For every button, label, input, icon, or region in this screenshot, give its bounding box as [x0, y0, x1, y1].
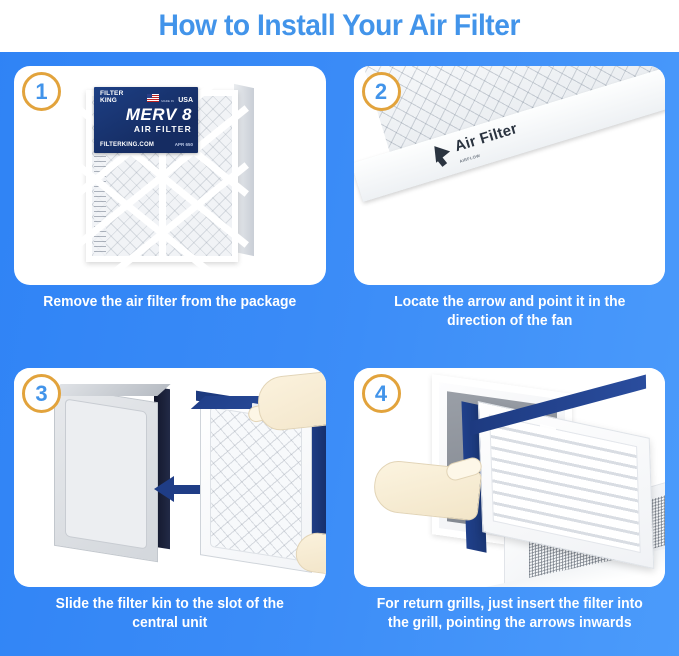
step-caption-3: Slide the filter kin to the slot of the …: [20, 595, 319, 633]
step-caption-2: Locate the arrow and point it in the dir…: [360, 293, 659, 331]
grill-louvers: [489, 414, 641, 553]
step-3-illustration: [14, 368, 326, 587]
unit-front-recess: [65, 399, 147, 550]
step-card-3: 3: [0, 354, 340, 656]
step-number-badge-1: 1: [22, 72, 61, 111]
step-2-illustration: Air Filter AIRFLOW: [354, 66, 666, 285]
apr-rating-text: APR 650: [175, 143, 193, 148]
step-3-image-card: 3: [14, 368, 326, 587]
step-number-badge-3: 3: [22, 374, 61, 413]
step-2-image-card: 2 Air Filter: [354, 66, 666, 285]
infographic-root: How to Install Your Air Filter 1: [0, 0, 679, 656]
air-filter-text: AIR FILTER: [94, 125, 192, 134]
made-in-usa-badge: MADE IN USA: [147, 89, 193, 107]
filter-king-logo: FILTER KING: [100, 91, 123, 104]
step-4-illustration: [354, 368, 666, 587]
step-1-illustration: FILTER KING MADE IN USA: [14, 66, 326, 285]
usa-text: USA: [178, 97, 193, 104]
merv-rating-text: MERV 8: [94, 106, 192, 123]
made-in-usa-text-block: MADE IN USA: [161, 89, 193, 107]
made-in-text: MADE IN: [161, 99, 174, 103]
page-title: How to Install Your Air Filter: [159, 11, 520, 41]
unit-top-face: [47, 384, 170, 396]
hand-upper: [255, 370, 325, 433]
step-1-image-card: 1: [14, 66, 326, 285]
brand-line-1: FILTER: [100, 90, 123, 97]
step-4-image-card: 4: [354, 368, 666, 587]
brand-line-2: KING: [100, 98, 123, 105]
filter-product-label: FILTER KING MADE IN USA: [94, 87, 198, 153]
step-caption-1: Remove the air filter from the package: [20, 293, 319, 312]
step-number-badge-4: 4: [362, 374, 401, 413]
label-brand-row: FILTER KING MADE IN USA: [100, 91, 193, 104]
label-footer-row: FILTERKING.COM APR 650: [100, 142, 193, 148]
header-bar: How to Install Your Air Filter: [0, 0, 679, 52]
step-card-1: 1: [0, 52, 340, 354]
filter-corner-body: Air Filter AIRFLOW: [354, 66, 666, 285]
step-number-badge-2: 2: [362, 72, 401, 111]
filter-pleat-mesh-3: [210, 407, 302, 562]
filter-corner-photo: Air Filter AIRFLOW: [354, 66, 666, 285]
merv8-filter-photo: FILTER KING MADE IN USA: [86, 82, 258, 262]
step-caption-4: For return grills, just insert the filte…: [360, 595, 659, 633]
us-flag-icon: [147, 94, 159, 102]
unit-front-face: [54, 386, 158, 562]
central-unit: [54, 388, 172, 558]
website-text: FILTERKING.COM: [100, 142, 154, 148]
step-card-4: 4: [340, 354, 679, 656]
step-card-2: 2 Air Filter: [340, 52, 679, 354]
steps-grid: 1: [0, 52, 679, 656]
